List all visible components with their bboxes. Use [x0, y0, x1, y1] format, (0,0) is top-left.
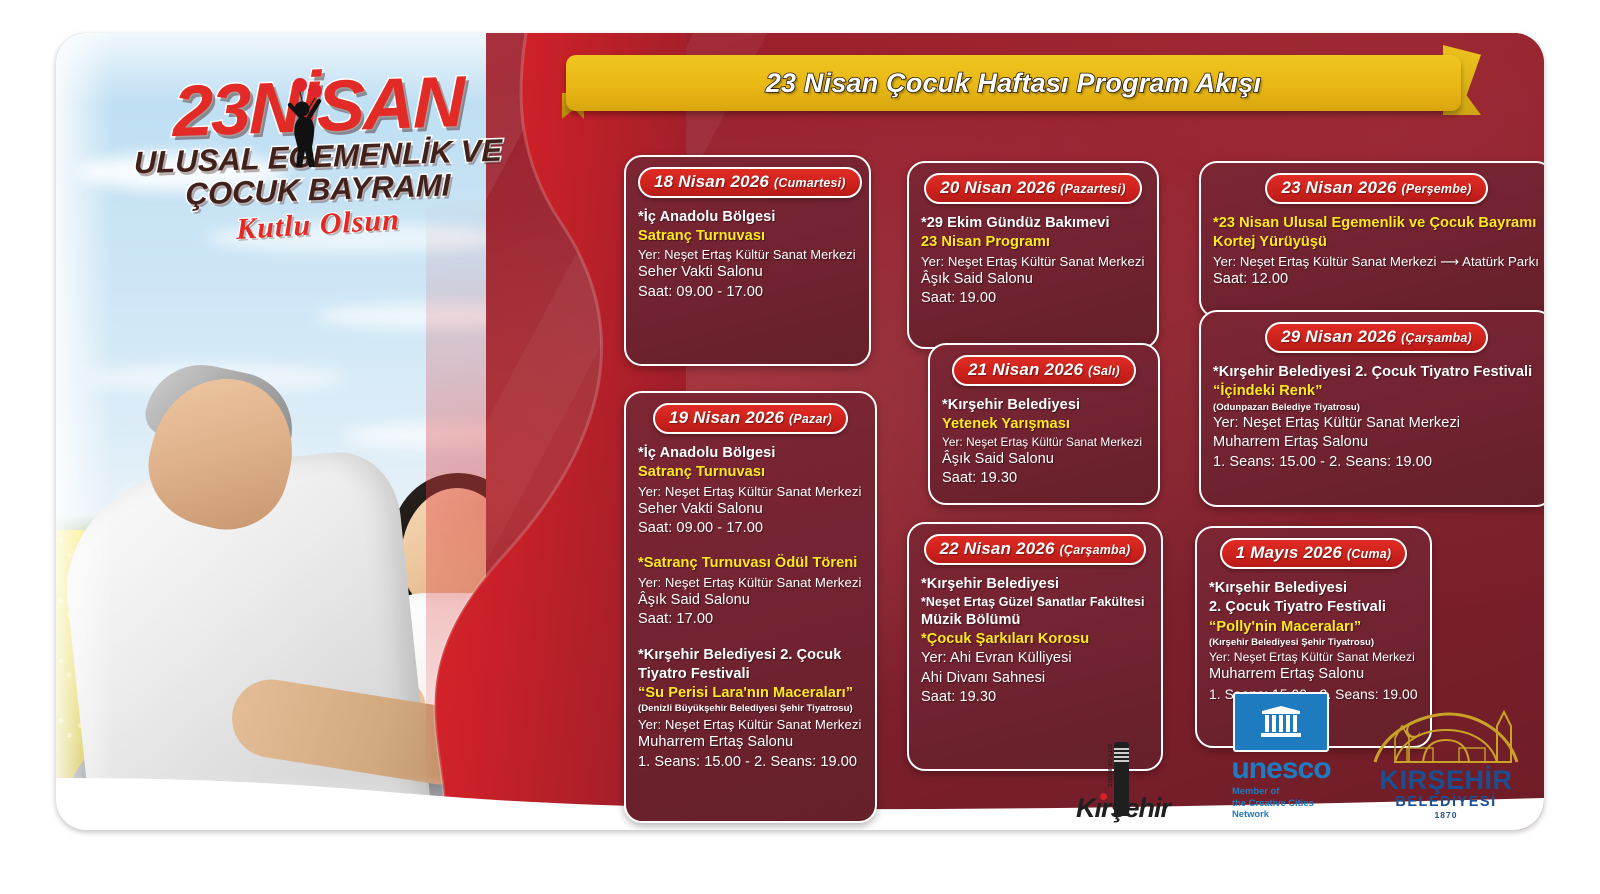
event-line: “Polly'nin Maceraları”: [1209, 618, 1418, 637]
date-badge: 18 Nisan 2026 (Cumartesi): [638, 167, 862, 198]
event-line: (Odunpazarı Belediye Tiyatrosu): [1213, 402, 1540, 415]
event-block: *Satranç Turnuvası Ödül TöreniYer: Neşet…: [638, 554, 863, 629]
event-line: Seher Vakti Salonu: [638, 500, 863, 519]
event-line: 1. Seans: 15.00 - 2. Seans: 19.00: [638, 753, 863, 772]
event-line: Satranç Turnuvası: [638, 227, 857, 246]
event-line: *İç Anadolu Bölgesi: [638, 444, 863, 463]
date-badge-wrap: 20 Nisan 2026 (Pazartesi): [921, 173, 1145, 204]
header-ribbon: 23 Nisan Çocuk Haftası Program Akışı: [566, 55, 1461, 111]
poster-canvas: 23NİSAN ULUSAL EGEMENLİK VE ÇOCUK BAYRAM…: [56, 33, 1544, 830]
event-line: *23 Nisan Ulusal Egemenlik ve Çocuk Bayr…: [1213, 214, 1540, 233]
event-line: Müzik Bölümü: [921, 611, 1149, 630]
municipality-name: KIRŞEHİR: [1366, 767, 1526, 794]
program-card: 29 Nisan 2026 (Çarşamba)*Kırşehir Beledi…: [1199, 310, 1544, 507]
weekday-text: (Çarşamba): [1401, 331, 1472, 345]
event-line: Yer: Neşet Ertaş Kültür Sanat Merkezi: [638, 247, 857, 264]
logo-kirsehir-belediyesi: KIRŞEHİR BELEDİYESİ 1870: [1366, 708, 1526, 820]
date-badge-wrap: 22 Nisan 2026 (Çarşamba): [921, 534, 1149, 565]
partner-logos: CITY OF MUSIC Kırşehir unesco Member: [1066, 694, 1486, 824]
event-line: “Su Perisi Lara'nın Maceraları”: [638, 684, 863, 703]
event-line: 1. Seans: 15.00 - 2. Seans: 19.00: [1213, 453, 1540, 472]
event-line: “İçindeki Renk”: [1213, 382, 1540, 401]
date-badge: 19 Nisan 2026 (Pazar): [653, 403, 848, 434]
event-line: Yer: Neşet Ertaş Kültür Sanat Merkezi: [921, 253, 1145, 270]
date-badge-wrap: 23 Nisan 2026 (Perşembe): [1213, 173, 1540, 204]
date-text: 18 Nisan 2026: [654, 172, 774, 191]
unesco-temple-icon: [1258, 705, 1304, 739]
guitar-neck-icon: [1114, 742, 1129, 816]
date-badge: 21 Nisan 2026 (Salı): [952, 355, 1136, 386]
event-line: *Çocuk Şarkıları Korosu: [921, 630, 1149, 649]
weekday-text: (Cumartesi): [774, 176, 846, 190]
weekday-text: (Çarşamba): [1060, 543, 1131, 557]
event-line: Saat: 17.00: [638, 610, 863, 629]
event-line: Yer: Ahi Evran Külliyesi: [921, 649, 1149, 668]
event-block: *İç Anadolu BölgesiSatranç TurnuvasıYer:…: [638, 208, 857, 302]
municipality-year: 1870: [1366, 810, 1526, 820]
music-accent-dot: [1100, 793, 1107, 800]
event-line: Muharrem Ertaş Salonu: [638, 733, 863, 752]
date-badge-wrap: 18 Nisan 2026 (Cumartesi): [638, 167, 857, 198]
date-text: 23 Nisan 2026: [1281, 178, 1401, 197]
event-line: Tiyatro Festivali: [638, 665, 863, 684]
event-line: Saat: 12.00: [1213, 270, 1540, 289]
event-line: *İç Anadolu Bölgesi: [638, 208, 857, 227]
logo-unesco: unesco Member of the Creative Cities Net…: [1216, 692, 1346, 820]
program-card: 18 Nisan 2026 (Cumartesi)*İç Anadolu Böl…: [624, 155, 871, 366]
event-line: Yer: Neşet Ertaş Kültür Sanat Merkezi: [1209, 649, 1418, 665]
date-text: 21 Nisan 2026: [968, 360, 1088, 379]
date-text: 1 Mayıs 2026: [1236, 543, 1347, 562]
event-line: *Kırşehir Belediyesi: [942, 396, 1146, 415]
event-line: Saat: 19.30: [942, 469, 1146, 488]
event-block: *Kırşehir Belediyesi*Neşet Ertaş Güzel S…: [921, 575, 1149, 707]
event-block: *Kırşehir Belediyesi2. Çocuk Tiyatro Fes…: [1209, 579, 1418, 703]
event-line: Satranç Turnuvası: [638, 463, 863, 482]
event-block: *Kırşehir Belediyesi 2. ÇocukTiyatro Fes…: [638, 646, 863, 772]
event-line: *Satranç Turnuvası Ödül Töreni: [638, 554, 863, 573]
weekday-text: (Pazartesi): [1060, 182, 1125, 196]
unesco-subtitle-2: the Creative Cities Network: [1232, 797, 1346, 821]
event-line: Yer: Neşet Ertaş Kültür Sanat Merkezi: [638, 716, 863, 733]
date-badge: 1 Mayıs 2026 (Cuma): [1220, 538, 1408, 569]
program-card: 20 Nisan 2026 (Pazartesi)*29 Ekim Gündüz…: [907, 161, 1159, 349]
event-line: Kortej Yürüyüşü: [1213, 233, 1540, 252]
event-line: Saat: 09.00 - 17.00: [638, 519, 863, 538]
logo-city-of-music: CITY OF MUSIC Kırşehir: [1076, 742, 1166, 820]
municipality-subtitle: BELEDİYESİ: [1366, 794, 1526, 810]
unesco-wordmark: unesco: [1216, 753, 1346, 785]
event-line: Yer: Neşet Ertaş Kültür Sanat Merkezi: [1213, 414, 1540, 433]
event-line: *Neşet Ertaş Güzel Sanatlar Fakültesi: [921, 594, 1149, 611]
weekday-text: (Cuma): [1347, 547, 1391, 561]
event-line: *Kırşehir Belediyesi: [921, 575, 1149, 594]
event-line: Yer: Neşet Ertaş Kültür Sanat Merkezi: [942, 435, 1146, 451]
event-logo: 23NİSAN ULUSAL EGEMENLİK VE ÇOCUK BAYRAM…: [118, 73, 518, 242]
kirsehir-skyline-icon: [1371, 708, 1521, 766]
program-card: 21 Nisan 2026 (Salı)*Kırşehir Belediyesi…: [928, 343, 1160, 505]
event-line: Saat: 09.00 - 17.00: [638, 283, 857, 302]
logo-23-number: 23: [173, 69, 249, 152]
date-text: 29 Nisan 2026: [1281, 327, 1401, 346]
page-title: 23 Nisan Çocuk Haftası Program Akışı: [566, 55, 1461, 111]
date-badge-wrap: 29 Nisan 2026 (Çarşamba): [1213, 322, 1540, 353]
event-line: *Kırşehir Belediyesi: [1209, 579, 1418, 598]
event-block: *29 Ekim Gündüz Bakımevi23 Nisan Program…: [921, 214, 1145, 308]
program-card: 19 Nisan 2026 (Pazar)*İç Anadolu Bölgesi…: [624, 391, 877, 823]
event-line: Âşık Said Salonu: [921, 270, 1145, 289]
date-badge: 29 Nisan 2026 (Çarşamba): [1265, 322, 1488, 353]
date-badge: 20 Nisan 2026 (Pazartesi): [924, 173, 1141, 204]
event-line: Saat: 19.00: [921, 289, 1145, 308]
event-line: Âşık Said Salonu: [942, 450, 1146, 469]
event-line: Seher Vakti Salonu: [638, 263, 857, 282]
date-text: 19 Nisan 2026: [669, 408, 789, 427]
event-line: Yetenek Yarışması: [942, 415, 1146, 434]
event-block: *Kırşehir BelediyesiYetenek YarışmasıYer…: [942, 396, 1146, 489]
event-line: Muharrem Ertaş Salonu: [1213, 433, 1540, 452]
event-line: Yer: Neşet Ertaş Kültür Sanat Merkezi: [638, 574, 863, 591]
event-line: *Kırşehir Belediyesi 2. Çocuk Tiyatro Fe…: [1213, 363, 1540, 382]
event-line: *Kırşehir Belediyesi 2. Çocuk: [638, 646, 863, 665]
event-line: 2. Çocuk Tiyatro Festivali: [1209, 598, 1418, 617]
date-badge-wrap: 19 Nisan 2026 (Pazar): [638, 403, 863, 434]
child-with-balloons-silhouette: [274, 75, 334, 171]
date-text: 22 Nisan 2026: [940, 539, 1060, 558]
event-line: (Denizli Büyükşehir Belediyesi Şehir Tiy…: [638, 703, 863, 716]
event-block: *İç Anadolu BölgesiSatranç TurnuvasıYer:…: [638, 444, 863, 538]
unesco-emblem: [1233, 692, 1329, 752]
event-block: *Kırşehir Belediyesi 2. Çocuk Tiyatro Fe…: [1213, 363, 1540, 472]
program-card: 23 Nisan 2026 (Perşembe)*23 Nisan Ulusal…: [1199, 161, 1544, 318]
date-badge: 22 Nisan 2026 (Çarşamba): [924, 534, 1147, 565]
date-text: 20 Nisan 2026: [940, 178, 1060, 197]
date-badge-wrap: 1 Mayıs 2026 (Cuma): [1209, 538, 1418, 569]
weekday-text: (Perşembe): [1401, 182, 1471, 196]
event-line: *29 Ekim Gündüz Bakımevi: [921, 214, 1145, 233]
event-line: Ahi Divanı Sahnesi: [921, 669, 1149, 688]
event-line: Âşık Said Salonu: [638, 591, 863, 610]
event-line: (Kırşehir Belediyesi Şehir Tiyatrosu): [1209, 637, 1418, 650]
unesco-subtitle-1: Member of: [1232, 785, 1346, 797]
weekday-text: (Pazar): [789, 412, 832, 426]
event-line: Yer: Neşet Ertaş Kültür Sanat Merkezi: [638, 483, 863, 500]
event-block: *23 Nisan Ulusal Egemenlik ve Çocuk Bayr…: [1213, 214, 1540, 289]
date-badge: 23 Nisan 2026 (Perşembe): [1265, 173, 1487, 204]
event-line: 23 Nisan Programı: [921, 233, 1145, 252]
event-line: Yer: Neşet Ertaş Kültür Sanat Merkezi ⟶ …: [1213, 253, 1540, 270]
city-of-music-vertical-label: CITY OF MUSIC: [1106, 744, 1112, 788]
event-line: Muharrem Ertaş Salonu: [1209, 665, 1418, 684]
date-badge-wrap: 21 Nisan 2026 (Salı): [942, 355, 1146, 386]
weekday-text: (Salı): [1088, 364, 1120, 378]
